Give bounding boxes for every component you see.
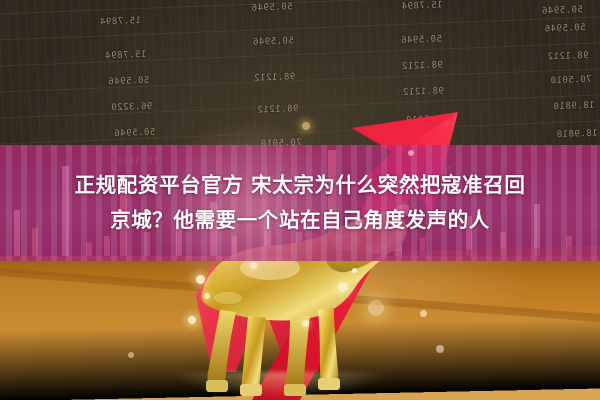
title-line-1: 正规配资平台官方 宋太宗为什么突然把寇准召回 — [0, 168, 600, 203]
thumbnail-image: 50.594615.789450.594615.789450.594650.59… — [0, 0, 600, 400]
title-block: 正规配资平台官方 宋太宗为什么突然把寇准召回 京城？他需要一个站在自己角度发声的… — [0, 168, 600, 238]
bull-reflection — [170, 372, 390, 398]
title-line-2: 京城？他需要一个站在自己角度发声的人 — [0, 203, 600, 238]
